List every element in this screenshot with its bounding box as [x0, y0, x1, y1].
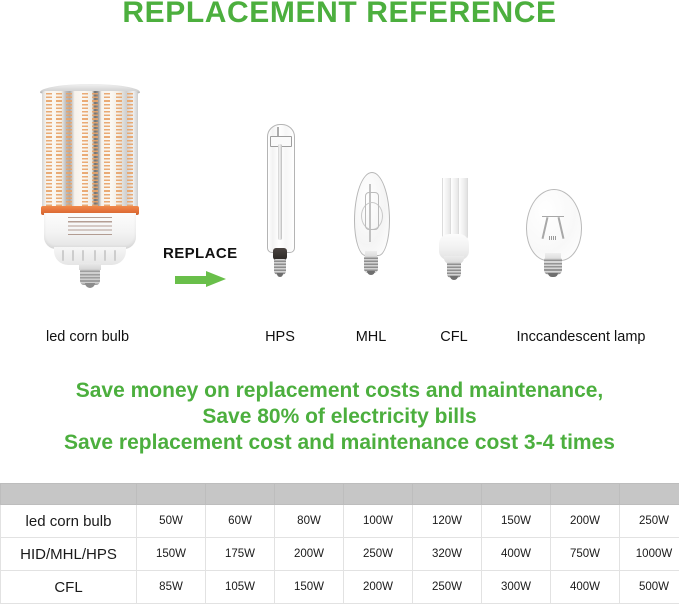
hps-arc-tube-icon	[278, 144, 282, 240]
caption-cfl: CFL	[414, 329, 494, 345]
table-cell-wattage: 750W	[551, 538, 620, 571]
table-header-cell	[275, 484, 344, 505]
table-cell-wattage: 80W	[275, 505, 344, 538]
table-cell-wattage: 250W	[344, 538, 413, 571]
led-corn-bulb-image	[38, 84, 142, 284]
slogan-line-1: Save money on replacement costs and main…	[0, 378, 679, 404]
incandescent-glass-icon	[526, 189, 582, 261]
incandescent-bulb-image	[522, 189, 584, 284]
table-cell-wattage: 50W	[137, 505, 206, 538]
incandescent-base-tip-icon	[548, 273, 558, 277]
table-header-cell	[344, 484, 413, 505]
table-cell-wattage: 200W	[275, 538, 344, 571]
cfl-tube-3-icon	[458, 178, 468, 241]
incandescent-filament-coil-icon	[549, 236, 557, 240]
table-header-cell	[1, 484, 137, 505]
cfl-base-tip-icon	[450, 276, 458, 280]
wattage-comparison-table-wrap: led corn bulb50W60W80W100W120W150W200W25…	[0, 483, 679, 604]
table-header-cell	[482, 484, 551, 505]
slogan-line-2: Save 80% of electricity bills	[0, 404, 679, 430]
table-cell-wattage: 320W	[413, 538, 482, 571]
table-cell-wattage: 400W	[482, 538, 551, 571]
table-cell-wattage: 60W	[206, 505, 275, 538]
caption-led-corn-bulb: led corn bulb	[0, 329, 175, 345]
hps-bulb-image	[262, 114, 298, 284]
table-header	[1, 484, 679, 505]
page-title: REPLACEMENT REFERENCE	[0, 0, 679, 30]
savings-slogan: Save money on replacement costs and main…	[0, 378, 679, 456]
hps-base-tip-icon	[277, 273, 283, 277]
table-header-row	[1, 484, 679, 505]
corn-led-strips-icon	[42, 93, 138, 207]
table-cell-wattage: 175W	[206, 538, 275, 571]
table-row: HID/MHL/HPS150W175W200W250W320W400W750W1…	[1, 538, 679, 571]
table-cell-wattage: 120W	[413, 505, 482, 538]
table-header-cell	[137, 484, 206, 505]
table-cell-wattage: 250W	[620, 505, 679, 538]
table-row: led corn bulb50W60W80W100W120W150W200W25…	[1, 505, 679, 538]
table-cell-wattage: 150W	[482, 505, 551, 538]
mhl-bulb-image	[350, 172, 392, 284]
caption-incandescent-lamp: Inccandescent lamp	[483, 329, 679, 345]
table-body: led corn bulb50W60W80W100W120W150W200W25…	[1, 505, 679, 604]
table-row-label: HID/MHL/HPS	[1, 538, 137, 571]
table-header-cell	[413, 484, 482, 505]
right-arrow-icon	[175, 271, 227, 288]
caption-mhl: MHL	[331, 329, 411, 345]
mhl-arc-tube-icon	[365, 192, 379, 230]
table-cell-wattage: 150W	[137, 538, 206, 571]
table-cell-wattage: 200W	[551, 505, 620, 538]
bulb-comparison-stage: REPLACE	[0, 45, 679, 310]
slogan-line-3: Save replacement cost and maintenance co…	[0, 430, 679, 456]
cfl-bulb-image	[435, 178, 473, 284]
table-cell-wattage: 1000W	[620, 538, 679, 571]
table-cell-wattage: 100W	[344, 505, 413, 538]
corn-base-tip-icon	[85, 283, 95, 288]
table-header-cell	[620, 484, 679, 505]
corn-spec-label-icon	[68, 217, 112, 238]
wattage-comparison-table: led corn bulb50W60W80W100W120W150W200W25…	[0, 483, 679, 604]
replacement-reference-page: REPLACEMENT REFERENCE	[0, 0, 679, 599]
table-header-cell	[551, 484, 620, 505]
table-header-cell	[206, 484, 275, 505]
caption-hps: HPS	[240, 329, 320, 345]
replace-label: REPLACE	[163, 245, 237, 262]
mhl-base-tip-icon	[367, 271, 375, 275]
table-row-label: led corn bulb	[1, 505, 137, 538]
